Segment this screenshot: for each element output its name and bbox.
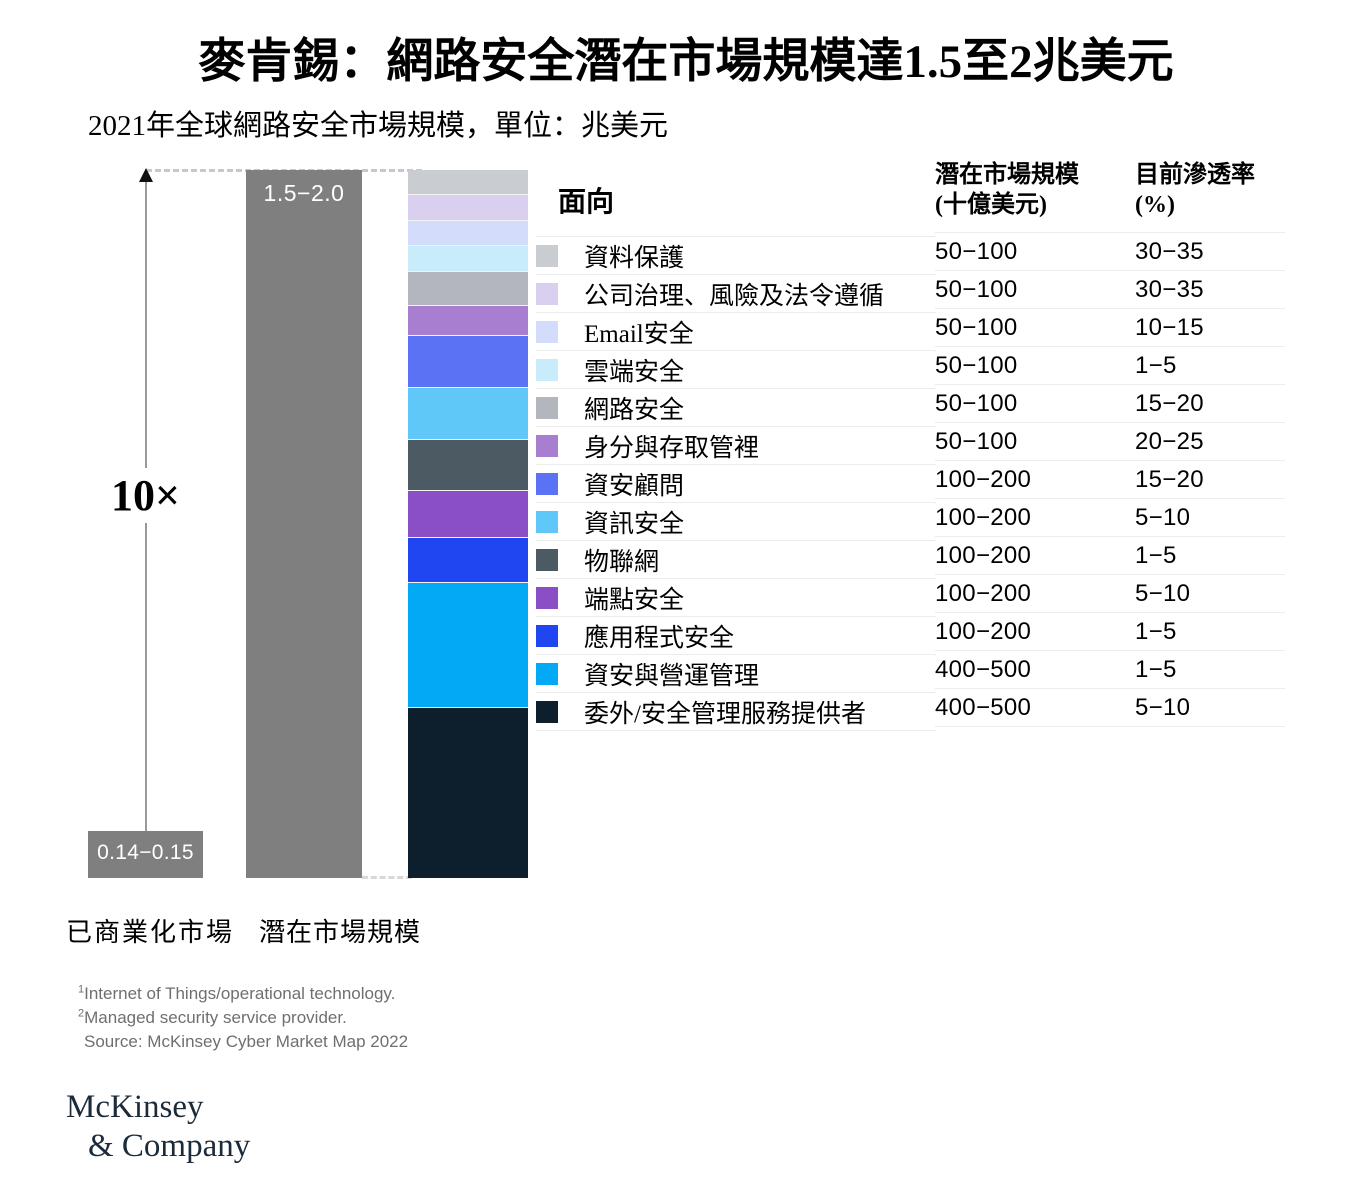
table-row: 100−2005−10 bbox=[935, 574, 1285, 612]
page-title: 麥肯錫：網路安全潛在市場規模達1.5至2兆美元 bbox=[0, 22, 1372, 91]
table-header-tam-line2: (十億美元) bbox=[935, 190, 1135, 220]
table-cell-tam: 100−200 bbox=[935, 542, 1135, 570]
multiplier-line bbox=[145, 176, 147, 831]
stack-segment bbox=[408, 538, 528, 583]
stack-segment bbox=[408, 491, 528, 538]
table-cell-tam: 400−500 bbox=[935, 656, 1135, 684]
dashed-guide-bottom bbox=[362, 876, 412, 879]
list-item[interactable]: 身分與存取管裡 bbox=[536, 426, 936, 464]
stack-segment bbox=[408, 708, 528, 878]
footnotes: 1Internet of Things/operational technolo… bbox=[78, 982, 408, 1054]
legend-item-label: 應用程式安全 bbox=[584, 618, 734, 654]
axis-label-tam: 潛在市場規模 bbox=[245, 912, 435, 949]
list-item[interactable]: 資料保護 bbox=[536, 236, 936, 274]
table-row: 100−20015−20 bbox=[935, 460, 1285, 498]
table-cell-tam: 50−100 bbox=[935, 276, 1135, 304]
legend-item-label: 委外/安全管理服務提供者 bbox=[584, 694, 866, 730]
legend-swatch-icon bbox=[536, 587, 558, 609]
legend-swatch-icon bbox=[536, 283, 558, 305]
list-item[interactable]: Email安全 bbox=[536, 312, 936, 350]
table-row: 100−2001−5 bbox=[935, 536, 1285, 574]
legend-swatch-icon bbox=[536, 245, 558, 267]
bar-commercialized-market bbox=[88, 831, 203, 878]
legend-item-label: 端點安全 bbox=[584, 580, 684, 616]
table-header-tam-line1: 潛在市場規模 bbox=[935, 160, 1135, 190]
table-row: 50−10030−35 bbox=[935, 232, 1285, 270]
footnote-2-text: Managed security service provider. bbox=[84, 1008, 347, 1027]
list-item[interactable]: 應用程式安全 bbox=[536, 616, 936, 654]
table-cell-penetration: 20−25 bbox=[1135, 428, 1285, 456]
legend-item-label: 資訊安全 bbox=[584, 504, 684, 540]
legend-item-label: Email安全 bbox=[584, 314, 694, 350]
legend-swatch-icon bbox=[536, 473, 558, 495]
stack-segment bbox=[408, 336, 528, 388]
axis-category-labels: 已商業化市場潛在市場規模 bbox=[55, 912, 535, 949]
table-body: 50−10030−3550−10030−3550−10010−1550−1001… bbox=[935, 232, 1285, 727]
legend-swatch-icon bbox=[536, 321, 558, 343]
legend-swatch-icon bbox=[536, 701, 558, 723]
table-row: 400−5001−5 bbox=[935, 650, 1285, 688]
table-cell-tam: 50−100 bbox=[935, 390, 1135, 418]
table-row: 400−5005−10 bbox=[935, 688, 1285, 727]
table-row: 50−10010−15 bbox=[935, 308, 1285, 346]
table-cell-tam: 50−100 bbox=[935, 428, 1135, 456]
footnote-source: Source: McKinsey Cyber Market Map 2022 bbox=[78, 1030, 408, 1054]
table-cell-tam: 100−200 bbox=[935, 504, 1135, 532]
table-cell-penetration: 1−5 bbox=[1135, 352, 1285, 380]
stack-segment bbox=[408, 246, 528, 271]
stack-segment bbox=[408, 221, 528, 246]
table-header-pen-line2: (%) bbox=[1135, 190, 1285, 220]
legend-item-label: 雲端安全 bbox=[584, 352, 684, 388]
list-item[interactable]: 資訊安全 bbox=[536, 502, 936, 540]
bar-total-addressable-market bbox=[246, 170, 362, 878]
stack-segment bbox=[408, 195, 528, 220]
arrow-up-icon bbox=[139, 168, 153, 182]
footnote-2: 2Managed security service provider. bbox=[78, 1006, 408, 1030]
legend-swatch-icon bbox=[536, 549, 558, 571]
table-cell-penetration: 30−35 bbox=[1135, 276, 1285, 304]
legend-swatch-icon bbox=[536, 397, 558, 419]
table-cell-penetration: 1−5 bbox=[1135, 656, 1285, 684]
table-cell-penetration: 1−5 bbox=[1135, 618, 1285, 646]
legend-item-label: 身分與存取管裡 bbox=[584, 428, 759, 464]
page-subtitle: 2021年全球網路安全市場規模，單位：兆美元 bbox=[88, 102, 668, 144]
legend-item-label: 資料保護 bbox=[584, 238, 684, 274]
axis-label-commercialized: 已商業化市場 bbox=[55, 912, 245, 949]
legend-swatch-icon bbox=[536, 511, 558, 533]
bar-commercialized-label: 0.14−0.15 bbox=[88, 841, 203, 865]
legend-swatch-icon bbox=[536, 663, 558, 685]
table-cell-penetration: 30−35 bbox=[1135, 238, 1285, 266]
list-item[interactable]: 委外/安全管理服務提供者 bbox=[536, 692, 936, 731]
legend-item-label: 物聯網 bbox=[584, 542, 659, 578]
legend-item-label: 資安與營運管理 bbox=[584, 656, 759, 692]
footnote-1-text: Internet of Things/operational technolog… bbox=[84, 984, 395, 1003]
table-cell-penetration: 5−10 bbox=[1135, 694, 1285, 722]
legend-swatch-icon bbox=[536, 435, 558, 457]
table-cell-tam: 400−500 bbox=[935, 694, 1135, 722]
legend-row-list: 資料保護公司治理、風險及法令遵循Email安全雲端安全網路安全身分與存取管裡資安… bbox=[536, 236, 936, 731]
table-cell-penetration: 10−15 bbox=[1135, 314, 1285, 342]
legend-header: 面向 bbox=[558, 180, 614, 220]
list-item[interactable]: 物聯網 bbox=[536, 540, 936, 578]
table-row: 100−2005−10 bbox=[935, 498, 1285, 536]
legend-item-label: 資安顧問 bbox=[584, 466, 684, 502]
stacked-bar-segments bbox=[408, 170, 528, 878]
table-cell-penetration: 5−10 bbox=[1135, 580, 1285, 608]
logo-line-2: & Company bbox=[66, 1127, 250, 1166]
multiplier-annotation: 10× bbox=[103, 468, 188, 523]
table-cell-penetration: 1−5 bbox=[1135, 542, 1285, 570]
table-row: 50−10015−20 bbox=[935, 384, 1285, 422]
list-item[interactable]: 資安顧問 bbox=[536, 464, 936, 502]
table-header-row: 潛在市場規模 (十億美元) 目前滲透率 (%) bbox=[935, 160, 1285, 232]
legend-item-label: 網路安全 bbox=[584, 390, 684, 426]
table-cell-tam: 100−200 bbox=[935, 580, 1135, 608]
table-cell-tam: 50−100 bbox=[935, 352, 1135, 380]
footnote-1: 1Internet of Things/operational technolo… bbox=[78, 982, 408, 1006]
table-cell-tam: 50−100 bbox=[935, 314, 1135, 342]
list-item[interactable]: 資安與營運管理 bbox=[536, 654, 936, 692]
mckinsey-logo: McKinsey & Company bbox=[66, 1088, 250, 1166]
table-cell-tam: 100−200 bbox=[935, 466, 1135, 494]
list-item[interactable]: 雲端安全 bbox=[536, 350, 936, 388]
bar-tam-label: 1.5−2.0 bbox=[246, 180, 362, 207]
table-header-tam: 潛在市場規模 (十億美元) bbox=[935, 160, 1135, 232]
list-item[interactable]: 公司治理、風險及法令遵循 bbox=[536, 274, 936, 312]
table-header-penetration: 目前滲透率 (%) bbox=[1135, 160, 1285, 232]
stack-segment bbox=[408, 388, 528, 440]
table-header-pen-line1: 目前滲透率 bbox=[1135, 160, 1285, 190]
data-table: 潛在市場規模 (十億美元) 目前滲透率 (%) 50−10030−3550−10… bbox=[935, 160, 1285, 727]
table-cell-penetration: 5−10 bbox=[1135, 504, 1285, 532]
table-cell-penetration: 15−20 bbox=[1135, 390, 1285, 418]
table-row: 50−1001−5 bbox=[935, 346, 1285, 384]
list-item[interactable]: 網路安全 bbox=[536, 388, 936, 426]
stack-segment bbox=[408, 583, 528, 708]
stack-segment bbox=[408, 440, 528, 491]
dashed-guide-top bbox=[146, 169, 422, 172]
table-row: 100−2001−5 bbox=[935, 612, 1285, 650]
logo-line-1: McKinsey bbox=[66, 1088, 250, 1127]
legend-item-label: 公司治理、風險及法令遵循 bbox=[584, 276, 884, 312]
table-cell-penetration: 15−20 bbox=[1135, 466, 1285, 494]
list-item[interactable]: 端點安全 bbox=[536, 578, 936, 616]
table-row: 50−10030−35 bbox=[935, 270, 1285, 308]
stack-segment bbox=[408, 272, 528, 306]
stack-segment bbox=[408, 306, 528, 336]
table-cell-tam: 50−100 bbox=[935, 238, 1135, 266]
table-cell-tam: 100−200 bbox=[935, 618, 1135, 646]
stack-segment bbox=[408, 170, 528, 195]
legend-swatch-icon bbox=[536, 359, 558, 381]
legend-swatch-icon bbox=[536, 625, 558, 647]
table-row: 50−10020−25 bbox=[935, 422, 1285, 460]
